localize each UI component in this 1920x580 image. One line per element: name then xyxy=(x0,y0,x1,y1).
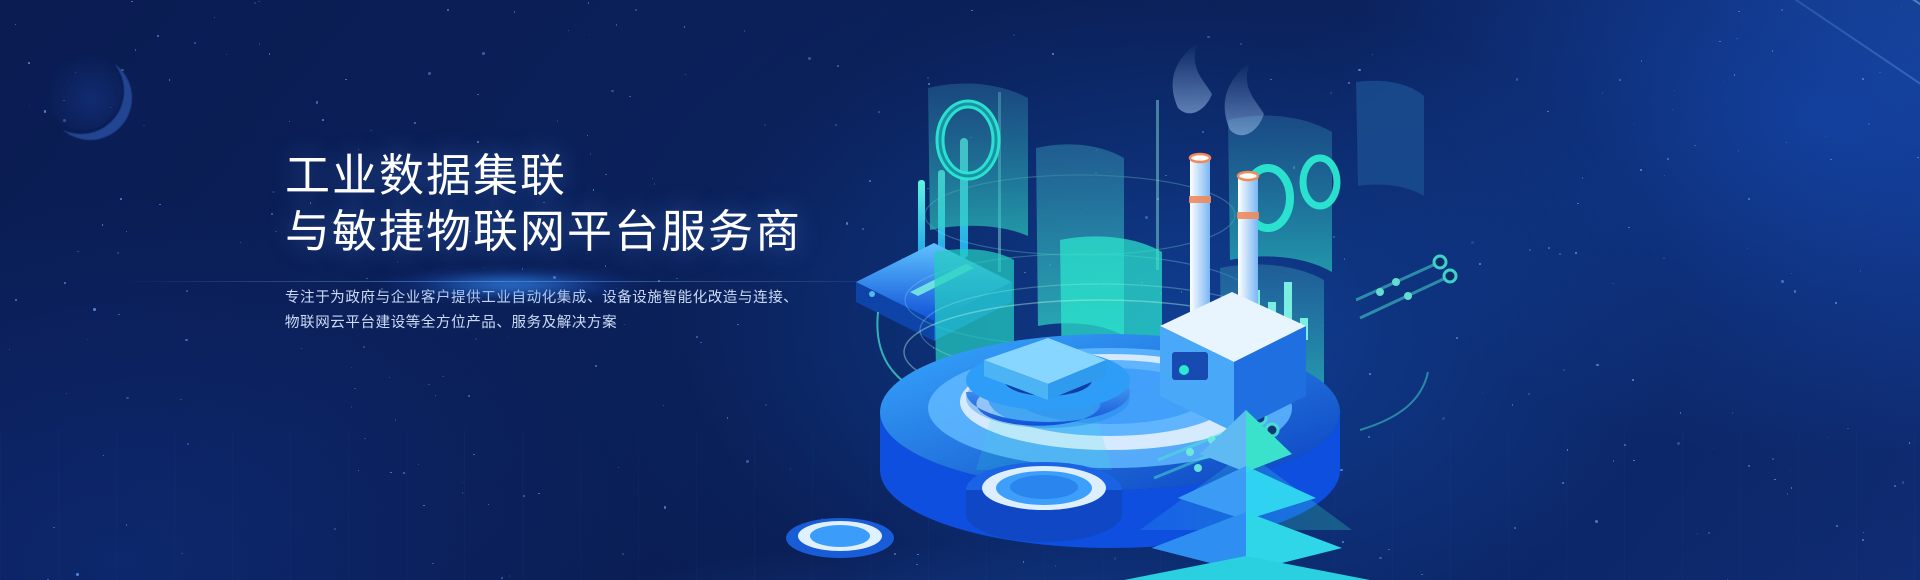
iot-illustration xyxy=(760,0,1920,580)
ring-indicator xyxy=(786,518,894,558)
crescent-moon-icon xyxy=(38,48,124,134)
hero-banner: 工业数据集联 与敏捷物联网平台服务商 专注于为政府与企业客户提供工业自动化集成、… xyxy=(0,0,1920,580)
